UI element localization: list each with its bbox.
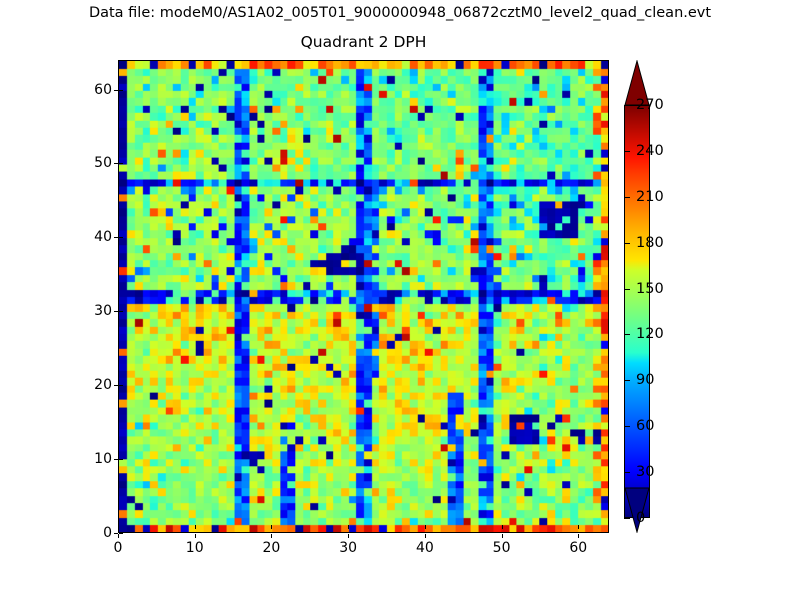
x-tick xyxy=(502,534,503,538)
x-tick-label: 50 xyxy=(493,540,511,556)
x-tick-inner xyxy=(118,525,119,529)
colorbar-tick xyxy=(624,380,630,381)
detector-heatmap xyxy=(119,61,608,532)
x-tick xyxy=(425,534,426,538)
x-tick-inner xyxy=(195,525,196,529)
y-tick xyxy=(114,163,118,164)
y-tick xyxy=(114,311,118,312)
y-tick-label: 60 xyxy=(94,82,112,98)
y-tick-inner xyxy=(119,237,123,238)
x-tick-inner xyxy=(502,525,503,529)
colorbar-tick xyxy=(624,472,630,473)
y-tick-label: 50 xyxy=(94,155,112,171)
colorbar-tick xyxy=(624,426,630,427)
x-tick-label: 0 xyxy=(114,540,123,556)
y-tick-inner xyxy=(119,385,123,386)
colorbar-tick-label: 240 xyxy=(636,143,664,159)
colorbar-tick xyxy=(624,289,630,290)
colorbar-tick xyxy=(624,243,630,244)
x-tick-label: 20 xyxy=(263,540,281,556)
colorbar-tick-label: 90 xyxy=(636,372,654,388)
x-tick-inner xyxy=(271,525,272,529)
colorbar-tick-label: 270 xyxy=(636,97,664,113)
y-tick-inner xyxy=(119,163,123,164)
x-tick xyxy=(578,534,579,538)
x-tick xyxy=(118,534,119,538)
x-tick-inner xyxy=(348,525,349,529)
colorbar-tick-label: 0 xyxy=(636,510,645,526)
x-tick-label: 60 xyxy=(569,540,587,556)
colorbar-tick-label: 120 xyxy=(636,326,664,342)
x-tick-label: 30 xyxy=(339,540,357,556)
colorbar-tick xyxy=(624,334,630,335)
x-tick-label: 10 xyxy=(186,540,204,556)
colorbar-tick xyxy=(624,151,630,152)
x-tick-label: 40 xyxy=(416,540,434,556)
y-tick-inner xyxy=(119,533,123,534)
colorbar-tick-label: 30 xyxy=(636,464,654,480)
y-tick-label: 0 xyxy=(103,525,112,541)
y-tick-inner xyxy=(119,311,123,312)
colorbar-gradient xyxy=(624,105,650,518)
data-file-suptitle: Data file: modeM0/AS1A02_005T01_90000009… xyxy=(0,5,800,21)
y-tick xyxy=(114,533,118,534)
y-tick-label: 20 xyxy=(94,377,112,393)
y-tick xyxy=(114,237,118,238)
y-axis-tick-labels: 0102030405060 xyxy=(60,0,112,600)
colorbar-tick xyxy=(624,518,630,519)
colorbar-tick xyxy=(624,197,630,198)
colorbar-tick-label: 210 xyxy=(636,189,664,205)
heatmap-axes xyxy=(118,60,609,533)
y-tick-inner xyxy=(119,459,123,460)
y-tick-label: 10 xyxy=(94,451,112,467)
y-tick-label: 40 xyxy=(94,229,112,245)
matplotlib-figure: Data file: modeM0/AS1A02_005T01_90000009… xyxy=(0,0,800,600)
y-tick xyxy=(114,90,118,91)
y-tick xyxy=(114,459,118,460)
x-tick xyxy=(271,534,272,538)
x-tick xyxy=(348,534,349,538)
y-tick-inner xyxy=(119,90,123,91)
colorbar-tick-label: 150 xyxy=(636,281,664,297)
colorbar-tick xyxy=(624,105,630,106)
y-tick-label: 30 xyxy=(94,303,112,319)
page-title: Quadrant 2 DPH xyxy=(118,33,609,51)
colorbar-tick-label: 180 xyxy=(636,235,664,251)
x-tick-inner xyxy=(425,525,426,529)
y-tick xyxy=(114,385,118,386)
x-tick-inner xyxy=(578,525,579,529)
x-tick xyxy=(195,534,196,538)
colorbar-tick-label: 60 xyxy=(636,418,654,434)
